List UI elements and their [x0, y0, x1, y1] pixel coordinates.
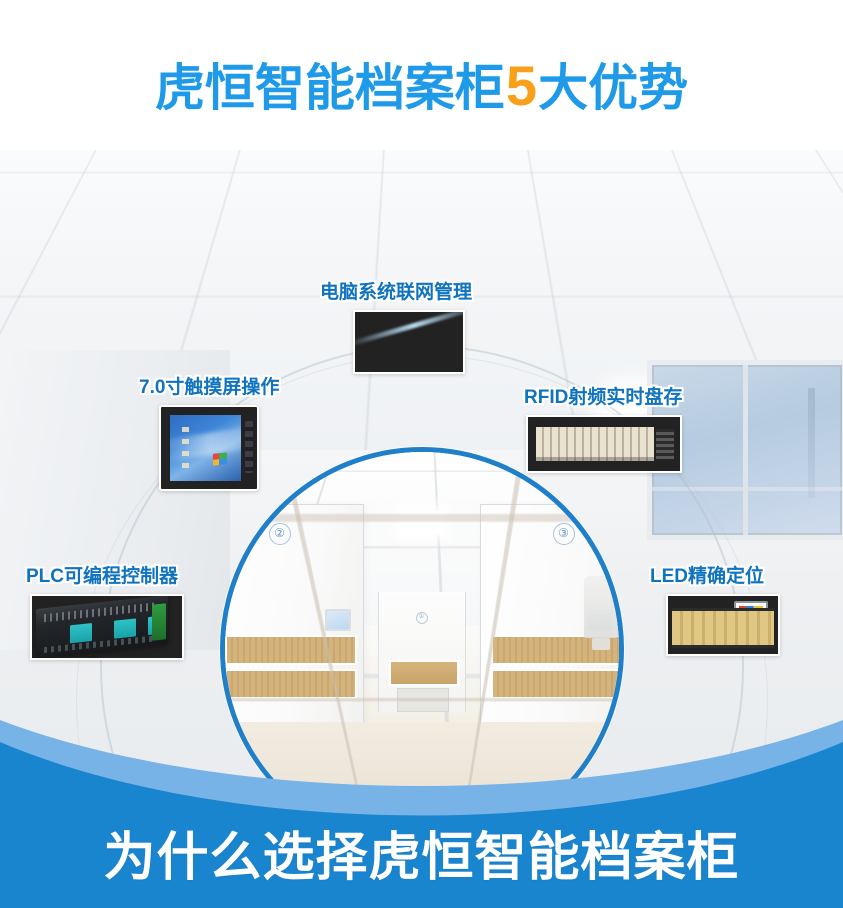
- page-title-prefix: 虎恒智能档案柜: [155, 60, 505, 116]
- windows-logo-icon: [213, 452, 227, 465]
- plc-body: [36, 595, 168, 657]
- promo-page: 虎恒智能 虎恒智能档案柜5大优势 ① ②: [0, 0, 843, 908]
- keyboard-light-streak: [353, 310, 465, 347]
- feature-touchscreen: 7.0寸触摸屏操作: [139, 378, 279, 491]
- feature-led: LED精确定位: [650, 567, 780, 656]
- feature-touchscreen-label: 7.0寸触摸屏操作: [139, 378, 279, 399]
- plc-bottom-terminals: [44, 635, 156, 653]
- keyboard-photo-thumbnail: [353, 310, 465, 374]
- rfid-antenna-rack: [656, 429, 674, 459]
- plc-terminal-vents: [44, 602, 156, 622]
- plc-label-1: [70, 623, 92, 643]
- feature-plc-label: PLC可编程控制器: [26, 567, 184, 588]
- plc-controller-photo-thumbnail: [30, 594, 184, 660]
- rfid-file-row: [536, 427, 654, 461]
- led-shelf-photo-thumbnail: [666, 594, 780, 656]
- footer-banner-text: 为什么选择虎恒智能档案柜: [0, 815, 843, 890]
- page-title-number: 5: [505, 54, 538, 117]
- rfid-shelf-photo-thumbnail: [526, 415, 682, 473]
- feature-plc: PLC可编程控制器: [26, 567, 184, 660]
- outdoor-tower: [808, 388, 815, 498]
- feature-rfid-label: RFID射频实时盘存: [524, 388, 682, 409]
- desktop-icons: [182, 427, 189, 475]
- feature-computer-network: 电脑系统联网管理: [320, 283, 472, 374]
- touchscreen-display: [170, 415, 241, 481]
- page-title-suffix: 大优势: [538, 60, 688, 116]
- led-file-band: [672, 608, 774, 648]
- feature-led-label: LED精确定位: [650, 567, 780, 588]
- feature-computer-network-label: 电脑系统联网管理: [320, 283, 472, 304]
- touchscreen-panel-photo-thumbnail: [159, 405, 259, 491]
- plc-label-2: [114, 618, 136, 638]
- panel-buttons: [245, 421, 253, 473]
- feature-rfid: RFID射频实时盘存: [524, 388, 682, 473]
- page-title: 虎恒智能档案柜5大优势: [0, 58, 843, 114]
